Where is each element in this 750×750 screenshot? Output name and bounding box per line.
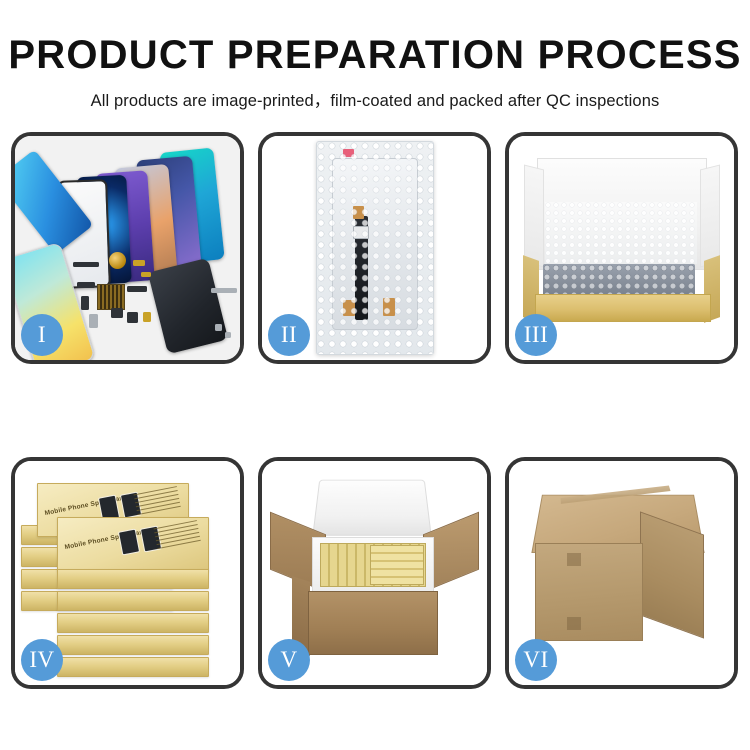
part-strip-3 xyxy=(81,296,89,310)
gold-component-icon xyxy=(109,252,126,269)
bubble-wrap-bag xyxy=(316,141,434,355)
part-block-2 xyxy=(127,312,138,323)
part-silver-1 xyxy=(89,314,98,328)
gold-box-front-2 xyxy=(57,591,209,611)
connector-bottom-right xyxy=(383,298,395,316)
connector-top xyxy=(353,206,364,219)
part-gold-3 xyxy=(143,312,151,322)
process-step-grid: I II xyxy=(11,132,740,689)
step-panel-3[interactable]: III xyxy=(505,132,738,364)
part-strip-1 xyxy=(73,262,99,267)
chip-grid-icon xyxy=(97,284,125,310)
qc-sticker xyxy=(343,149,354,157)
page-title: PRODUCT PREPARATION PROCESS xyxy=(0,34,750,76)
step-badge-4: IV xyxy=(21,639,63,681)
step-badge-2: II xyxy=(268,314,310,356)
box-print-2: Mobile Phone Spare Parts xyxy=(58,518,208,570)
step-panel-6[interactable]: VI xyxy=(505,457,738,689)
step-badge-6: VI xyxy=(515,639,557,681)
foam-sheet xyxy=(545,202,697,264)
bubble-padding-fill xyxy=(543,264,695,296)
foam-lid xyxy=(312,480,431,536)
carton-front-face xyxy=(535,543,643,641)
packed-gold-boxes-secondary xyxy=(370,545,424,585)
connector-bottom-left xyxy=(343,300,355,316)
page-subtitle: All products are image-printed，film-coat… xyxy=(0,87,750,111)
product-preparation-page: PRODUCT PREPARATION PROCESS All products… xyxy=(0,0,750,750)
gold-box-top-2: Mobile Phone Spare Parts xyxy=(57,517,209,571)
carton-front-panel xyxy=(308,591,438,655)
part-screw-2 xyxy=(225,332,231,338)
step-panel-1[interactable]: I xyxy=(11,132,244,364)
gold-box-front-5 xyxy=(57,657,209,677)
carton-seam-tab-bottom xyxy=(567,617,581,630)
step-badge-3: III xyxy=(515,314,557,356)
part-strip-2 xyxy=(77,282,95,288)
box-tray-front xyxy=(535,294,711,322)
step-panel-2[interactable]: II xyxy=(258,132,491,364)
step-panel-5[interactable]: V xyxy=(258,457,491,689)
part-silver-2 xyxy=(211,288,237,293)
gold-box-front-4 xyxy=(57,635,209,655)
part-gold-2 xyxy=(141,272,151,277)
part-gold-1 xyxy=(133,260,145,266)
step-badge-5: V xyxy=(268,639,310,681)
screen-ic-chip xyxy=(353,226,369,239)
gold-box-front-1 xyxy=(57,569,209,589)
step-panel-4[interactable]: Mobile Phone Spare Parts Mobile Phone Sp… xyxy=(11,457,244,689)
gold-box-front-3 xyxy=(57,613,209,633)
step-badge-1: I xyxy=(21,314,63,356)
part-block-1 xyxy=(111,308,123,318)
carton-seam-tab-top xyxy=(567,553,581,566)
box-spec-lines-2 xyxy=(154,520,203,558)
part-screw-1 xyxy=(215,324,222,331)
phone-back-housing xyxy=(148,258,228,355)
part-strip-4 xyxy=(127,286,147,292)
page-header: PRODUCT PREPARATION PROCESS All products… xyxy=(0,0,750,111)
carton-right-face xyxy=(640,511,704,638)
